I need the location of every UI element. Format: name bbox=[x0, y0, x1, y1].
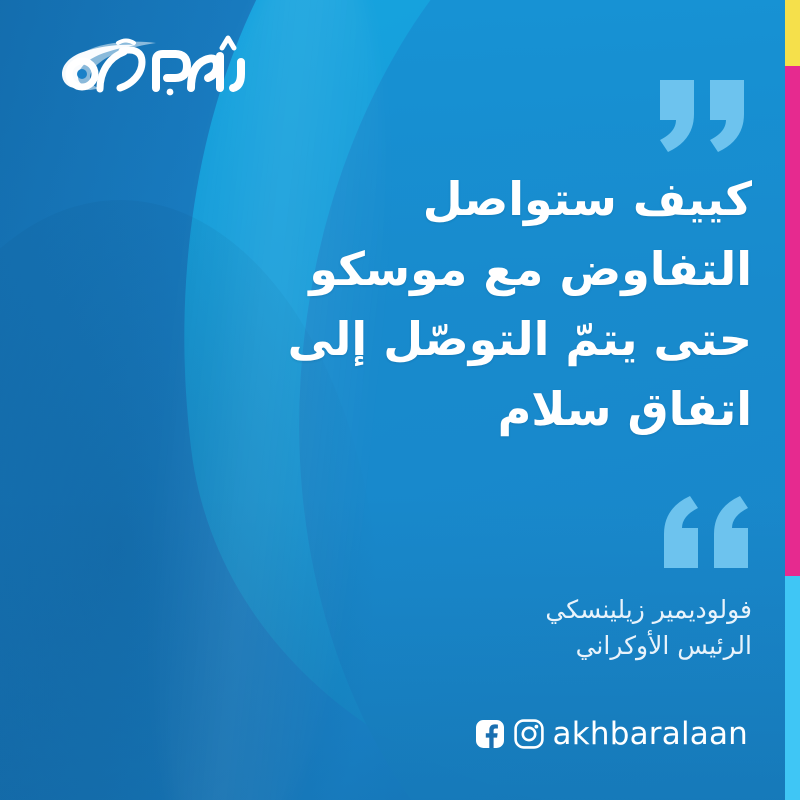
quote-text: كييف ستواصل التفاوض مع موسكو حتى يتمّ ال… bbox=[192, 165, 752, 445]
edge-segment-cyan bbox=[785, 576, 800, 800]
attribution: فولوديمير زيلينسكي الرئيس الأوكراني bbox=[192, 592, 752, 665]
attribution-title: الرئيس الأوكراني bbox=[192, 628, 752, 664]
social-handle-text: akhbaralaan bbox=[553, 716, 748, 752]
edge-segment-yellow bbox=[785, 0, 800, 66]
quote-line-4: اتفاق سلام bbox=[192, 375, 752, 445]
quote-line-1: كييف ستواصل bbox=[192, 165, 752, 235]
facebook-icon[interactable] bbox=[475, 719, 505, 749]
social-handle-bar[interactable]: akhbaralaan bbox=[475, 716, 752, 752]
attribution-name: فولوديمير زيلينسكي bbox=[192, 592, 752, 628]
quote-card: كييف ستواصل التفاوض مع موسكو حتى يتمّ ال… bbox=[0, 0, 800, 800]
quote-line-2: التفاوض مع موسكو bbox=[192, 235, 752, 305]
instagram-icon[interactable] bbox=[514, 719, 544, 749]
quote-mark-bottom-icon bbox=[656, 496, 752, 568]
edge-segment-magenta bbox=[785, 66, 800, 576]
brand-logo[interactable] bbox=[38, 26, 248, 104]
quote-mark-top-icon bbox=[656, 80, 752, 152]
edge-color-strip bbox=[785, 0, 800, 800]
quote-line-3: حتى يتمّ التوصّل إلى bbox=[192, 305, 752, 375]
